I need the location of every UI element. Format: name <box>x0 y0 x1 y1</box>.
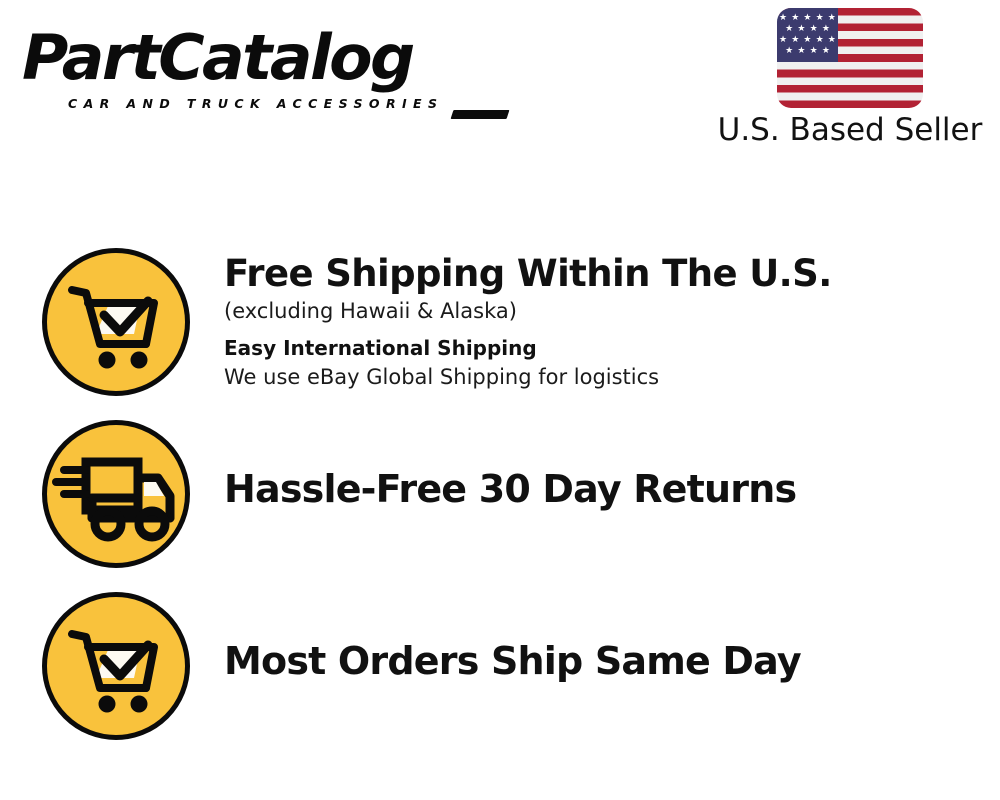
promo-banner: PartCatalog CAR AND TRUCK ACCESSORIES ★ … <box>0 0 1000 800</box>
feature-text-block: Hassle-Free 30 Day Returns <box>224 420 796 512</box>
brand-logo-text: PartCatalog <box>22 22 413 94</box>
flag-star: ★ <box>816 35 824 44</box>
flag-star: ★ <box>797 46 805 55</box>
feature-text-block: Most Orders Ship Same Day <box>224 592 801 684</box>
shopping-cart-check-icon <box>42 248 190 396</box>
flag-star: ★ <box>810 46 818 55</box>
feature-headline: Hassle-Free 30 Day Returns <box>224 466 796 512</box>
truck-glyph <box>42 420 190 568</box>
flag-star: ★ <box>828 13 836 22</box>
feature-text-block: Free Shipping Within The U.S. (excluding… <box>224 248 832 392</box>
flag-star: ★ <box>822 24 830 33</box>
flag-star: ★ <box>791 13 799 22</box>
feature-row-returns: Hassle-Free 30 Day Returns <box>0 420 1000 568</box>
brand-logo-tagline: CAR AND TRUCK ACCESSORIES <box>68 96 443 111</box>
flag-star: ★ <box>810 24 818 33</box>
flag-star: ★ <box>816 13 824 22</box>
flag-star-row: ★ ★ ★ ★ <box>777 24 838 33</box>
brand-logo: PartCatalog CAR AND TRUCK ACCESSORIES <box>22 22 492 117</box>
feature-row-same-day-ship: Most Orders Ship Same Day <box>0 592 1000 740</box>
us-based-seller-label: U.S. Based Seller <box>714 112 986 148</box>
logo-swoosh-shape <box>451 110 510 119</box>
flag-star: ★ <box>779 13 787 22</box>
us-based-seller-badge: ★ ★ ★ ★ ★ ★ ★ ★ ★ ★ ★ ★ ★ ★ ★ ★ <box>714 8 986 148</box>
delivery-truck-icon <box>42 420 190 568</box>
flag-star: ★ <box>803 35 811 44</box>
feature-subline-strong: Easy International Shipping <box>224 334 832 362</box>
feature-subline-detail: We use eBay Global Shipping for logistic… <box>224 362 832 392</box>
flag-star: ★ <box>785 24 793 33</box>
flag-star-row: ★ ★ ★ ★ ★ <box>777 13 838 22</box>
flag-star: ★ <box>785 46 793 55</box>
feature-subline: (excluding Hawaii & Alaska) <box>224 296 832 326</box>
flag-star: ★ <box>791 35 799 44</box>
cart-check-glyph <box>42 248 190 396</box>
feature-headline: Free Shipping Within The U.S. <box>224 252 832 296</box>
cart-check-glyph <box>42 592 190 740</box>
flag-star-row: ★ ★ ★ ★ ★ <box>777 35 838 44</box>
flag-star: ★ <box>779 35 787 44</box>
flag-star: ★ <box>828 35 836 44</box>
shopping-cart-check-icon <box>42 592 190 740</box>
feature-headline: Most Orders Ship Same Day <box>224 638 801 684</box>
flag-star: ★ <box>803 13 811 22</box>
feature-row-free-shipping: Free Shipping Within The U.S. (excluding… <box>0 248 1000 396</box>
flag-star: ★ <box>822 46 830 55</box>
flag-star-row: ★ ★ ★ ★ <box>777 46 838 55</box>
flag-star: ★ <box>797 24 805 33</box>
us-flag-icon: ★ ★ ★ ★ ★ ★ ★ ★ ★ ★ ★ ★ ★ ★ ★ ★ <box>777 8 923 108</box>
